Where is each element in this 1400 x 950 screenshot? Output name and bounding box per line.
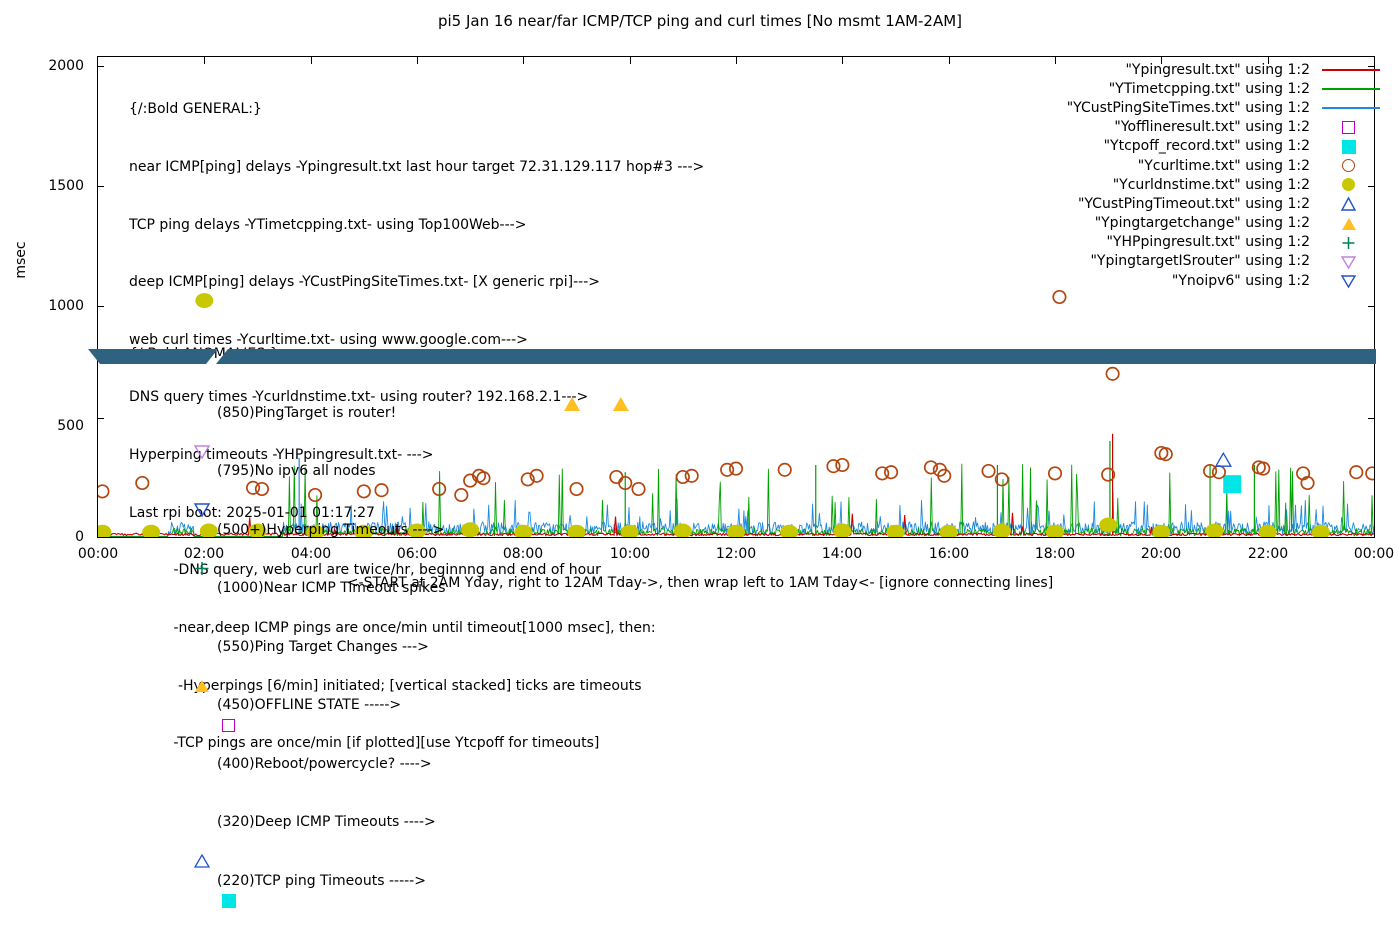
x-tick-mark (1374, 531, 1375, 538)
legend-item-ytimetcpping[interactable]: "YTimetcpping.txt" using 1:2 (982, 79, 1382, 98)
legend-key-line-red (1320, 60, 1382, 79)
general-line-8: -near,deep ICMP pings are once/min until… (129, 619, 704, 638)
anomaly-label: (550)Ping Target Changes ---> (217, 638, 429, 658)
general-line-10: -TCP pings are once/min [if plotted][use… (129, 734, 704, 753)
legend: "Ypingresult.txt" using 1:2 "YTimetcppin… (982, 60, 1382, 290)
legend-item-ycurltime[interactable]: "Ycurltime.txt" using 1:2 (982, 156, 1382, 175)
legend-label: "YCustPingSiteTimes.txt" using 1:2 (1067, 100, 1320, 116)
legend-label: "Ynoipv6" using 1:2 (1172, 273, 1320, 289)
triangle-down-open-blue-icon (193, 462, 215, 481)
legend-key-triangle-down-open-purple-icon (1320, 252, 1382, 271)
anomaly-label: (795)No ipv6 all nodes (217, 462, 376, 482)
legend-item-ypingtargetchange[interactable]: "Ypingtargetchange" using 1:2 (982, 214, 1382, 233)
legend-key-plus-icon (1320, 233, 1382, 252)
square-open-magenta-icon (193, 696, 215, 715)
legend-label: "Ycurltime.txt" using 1:2 (1138, 158, 1320, 174)
triangle-up-open-blue-icon (193, 813, 215, 832)
y-tick-label-500: 500 (4, 418, 84, 434)
general-line-9: -Hyperpings [6/min] initiated; [vertical… (129, 677, 704, 696)
general-line-1: TCP ping delays -YTimetcpping.txt- using… (129, 216, 704, 235)
y-tick-label-2000: 2000 (4, 58, 84, 74)
legend-key-line-blue (1320, 98, 1382, 117)
legend-item-ynoipv6[interactable]: "Ynoipv6" using 1:2 (982, 271, 1382, 290)
general-line-7: -DNS query, web curl are twice/hr, begin… (129, 561, 704, 580)
y-tick-label-1500: 1500 (4, 178, 84, 194)
anomaly-label: (400)Reboot/powercycle? ----> (217, 755, 432, 775)
general-line-2: deep ICMP[ping] delays -YCustPingSiteTim… (129, 273, 704, 292)
anomaly-item-2: (500+)Hyperping Timeouts ----> (195, 521, 213, 541)
x-tick-label-9: 18:00 (1010, 546, 1100, 562)
legend-key-triangle-up-filled-icon (1320, 214, 1382, 233)
anomaly-item-3: (1000)Near ICMP Timeout spikes (195, 579, 213, 599)
general-heading: {/:Bold GENERAL:} (129, 100, 704, 119)
legend-label: "Ytcpoff_record.txt" using 1:2 (1104, 138, 1320, 154)
x-tick-label-12: 00:00 (1329, 546, 1400, 562)
general-line-5: Hyperping timeouts -YHPpingresult.txt- -… (129, 446, 704, 465)
x-tick-label-11: 22:00 (1223, 546, 1313, 562)
anomaly-item-7: (320)Deep ICMP Timeouts ----> (195, 813, 213, 833)
legend-label: "YpingtargetISrouter" using 1:2 (1090, 253, 1320, 269)
legend-key-square-filled-icon (1320, 137, 1382, 156)
legend-item-yhppingresult[interactable]: "YHPpingresult.txt" using 1:2 (982, 233, 1382, 252)
anomaly-label: (450)OFFLINE STATE -----> (217, 696, 401, 716)
anomaly-label: (500+)Hyperping Timeouts ----> (217, 521, 444, 541)
anomalies-annotation-block: {/:Bold ANOMALIES:} (850)PingTarget is r… (129, 306, 213, 911)
legend-item-ypingtargetisrouter[interactable]: "YpingtargetISrouter" using 1:2 (982, 252, 1382, 271)
legend-key-circle-open-icon (1320, 156, 1382, 175)
legend-item-ypingresult[interactable]: "Ypingresult.txt" using 1:2 (982, 60, 1382, 79)
legend-item-ycustpingsitetimes[interactable]: "YCustPingSiteTimes.txt" using 1:2 (982, 98, 1382, 117)
anomaly-label: (850)PingTarget is router! (217, 404, 396, 424)
plus-green-icon (193, 521, 215, 540)
legend-label: "YTimetcpping.txt" using 1:2 (1109, 81, 1320, 97)
y-axis-label: msec (13, 225, 29, 295)
general-annotation-block: {/:Bold GENERAL:} near ICMP[ping] delays… (129, 62, 704, 773)
y-tick-label-1000: 1000 (4, 298, 84, 314)
anomaly-label: (220)TCP ping Timeouts -----> (217, 872, 426, 892)
anomaly-item-4: (550)Ping Target Changes ---> (195, 638, 213, 658)
legend-key-dot-filled-icon (1320, 175, 1382, 194)
legend-item-yofflineresult[interactable]: "Yofflineresult.txt" using 1:2 (982, 118, 1382, 137)
anomaly-item-5: (450)OFFLINE STATE -----> (195, 696, 213, 716)
chart-title: pi5 Jan 16 near/far ICMP/TCP ping and cu… (0, 12, 1400, 30)
general-line-4: DNS query times -Ycurldnstime.txt- using… (129, 388, 704, 407)
legend-item-ycurldnstime[interactable]: "Ycurldnstime.txt" using 1:2 (982, 175, 1382, 194)
anomaly-label: (320)Deep ICMP Timeouts ----> (217, 813, 436, 833)
legend-item-ytcpoff-record[interactable]: "Ytcpoff_record.txt" using 1:2 (982, 137, 1382, 156)
anomaly-item-8: (220)TCP ping Timeouts -----> (195, 872, 213, 892)
triangle-up-filled-orange-icon (193, 638, 215, 657)
legend-key-square-open-icon (1320, 118, 1382, 137)
legend-label: "YHPpingresult.txt" using 1:2 (1106, 234, 1320, 250)
legend-label: "Ypingresult.txt" using 1:2 (1125, 62, 1320, 78)
x-tick-label-7: 14:00 (797, 546, 887, 562)
x-tick-label-6: 12:00 (691, 546, 781, 562)
x-tick-label-10: 20:00 (1116, 546, 1206, 562)
anomaly-item-6: (400)Reboot/powercycle? ----> (195, 755, 213, 775)
y-tick-label-0: 0 (4, 529, 84, 545)
selection-band-overlay[interactable] (88, 349, 1376, 364)
legend-label: "Yofflineresult.txt" using 1:2 (1114, 119, 1320, 135)
anomaly-item-0: (850)PingTarget is router! (195, 404, 213, 424)
anomaly-item-1: (795)No ipv6 all nodes (195, 462, 213, 482)
legend-key-line-green (1320, 79, 1382, 98)
legend-key-triangle-up-open-icon (1320, 194, 1382, 213)
legend-label: "Ycurldnstime.txt" using 1:2 (1113, 177, 1320, 193)
general-line-0: near ICMP[ping] delays -Ypingresult.txt … (129, 158, 704, 177)
triangle-down-open-purple-icon (193, 404, 215, 423)
x-tick-label-8: 16:00 (904, 546, 994, 562)
square-filled-cyan-icon (193, 872, 215, 891)
legend-key-triangle-down-open-blue-icon (1320, 271, 1382, 290)
legend-item-ycustpingtimeout[interactable]: "YCustPingTimeout.txt" using 1:2 (982, 194, 1382, 213)
legend-label: "Ypingtargetchange" using 1:2 (1095, 215, 1320, 231)
anomaly-label: (1000)Near ICMP Timeout spikes (217, 579, 446, 599)
legend-label: "YCustPingTimeout.txt" using 1:2 (1078, 196, 1320, 212)
